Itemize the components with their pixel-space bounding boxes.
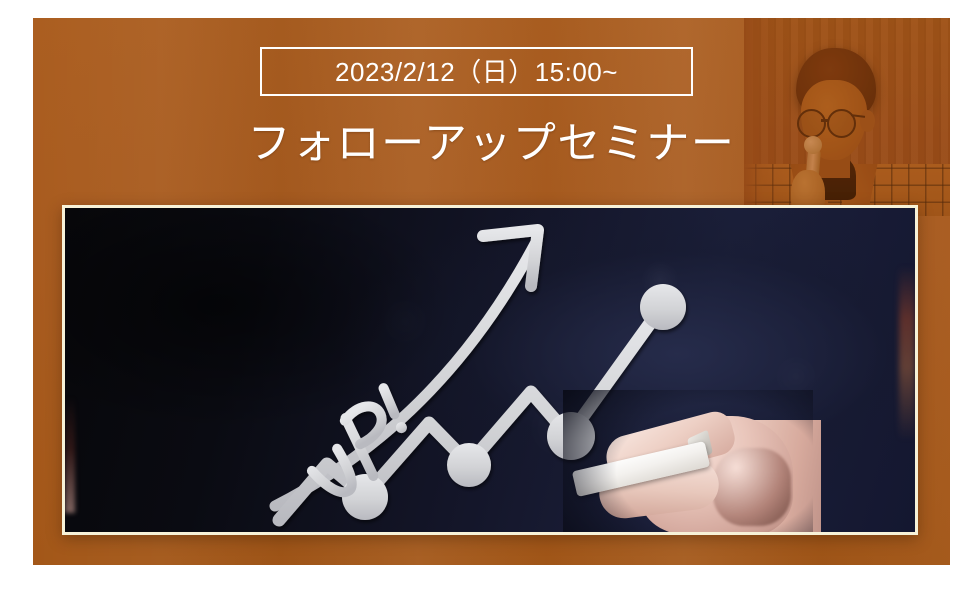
orange-panel: 2023/2/12（日）15:00~ フォローアップセミナー: [33, 18, 950, 565]
date-badge: 2023/2/12（日）15:00~: [260, 47, 693, 96]
banner-canvas: 2023/2/12（日）15:00~ フォローアップセミナー: [0, 0, 980, 600]
page-title: フォローアップセミナー: [33, 123, 950, 166]
hand-holding-chalk: [563, 390, 813, 532]
data-point-marker: [640, 284, 686, 330]
blackboard-surface: [65, 208, 915, 532]
photo-orange-tint: [744, 18, 950, 216]
board-right-glare: [899, 266, 915, 441]
speaker-photo: [744, 18, 950, 216]
hand-vignette: [563, 390, 813, 532]
blackboard-frame: [62, 205, 918, 535]
data-point-marker: [447, 443, 491, 487]
date-badge-text: 2023/2/12（日）15:00~: [335, 59, 618, 85]
board-left-glare: [65, 396, 75, 513]
